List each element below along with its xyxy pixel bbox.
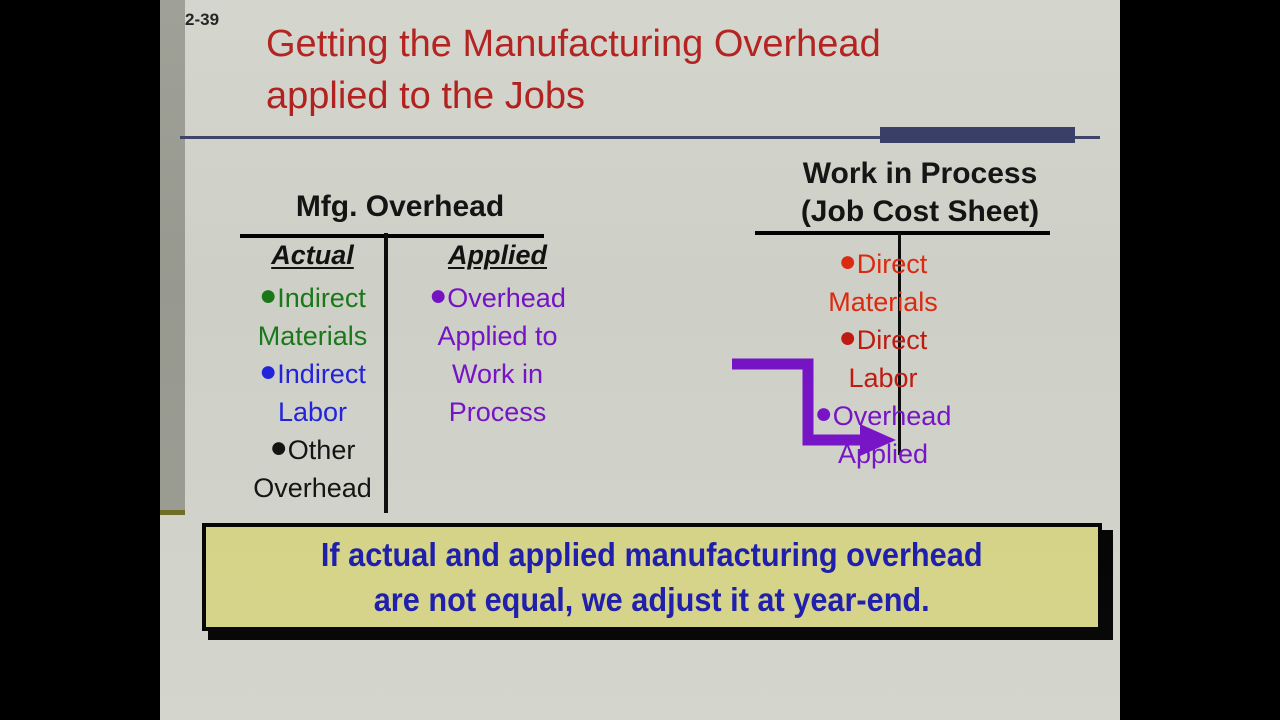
mfg-overhead-account: Mfg. Overhead xyxy=(220,190,580,224)
work-in-process-heading-line-1: Work in Process xyxy=(750,155,1090,193)
work-in-process-items: ●Direct Materials ●Direct Labor ●Overhea… xyxy=(738,245,1028,473)
list-item-line: Labor xyxy=(220,393,405,431)
callout-line-2: are not equal, we adjust it at year-end. xyxy=(321,577,983,622)
mfg-overhead-actual-column: Actual ●Indirect Materials ●Indirect Lab… xyxy=(220,240,405,507)
list-item: ●Other Overhead xyxy=(220,431,405,507)
work-in-process-top-rule xyxy=(755,231,1050,235)
list-item-line: Overhead xyxy=(220,469,405,507)
page-number: 2-39 xyxy=(185,10,219,30)
callout-line-1: If actual and applied manufacturing over… xyxy=(321,532,983,577)
list-item: ●Overhead Applied to Work in Process xyxy=(405,279,590,431)
page-title-line-1: Getting the Manufacturing Overhead xyxy=(266,18,1046,70)
bullet-dot-icon: ● xyxy=(259,279,277,312)
bullet-dot-icon: ● xyxy=(429,279,447,312)
mfg-overhead-top-rule xyxy=(240,234,544,238)
bullet-dot-icon: ● xyxy=(270,431,288,464)
list-item-line: Indirect xyxy=(277,359,366,389)
left-accent-band-foot xyxy=(160,510,185,515)
page-title-line-2: applied to the Jobs xyxy=(266,70,1046,122)
list-item-line: Direct xyxy=(857,249,928,279)
work-in-process-heading-line-2: (Job Cost Sheet) xyxy=(750,193,1090,231)
mfg-overhead-columns: Actual ●Indirect Materials ●Indirect Lab… xyxy=(220,240,590,507)
list-item-line: Overhead xyxy=(833,401,952,431)
bullet-dot-icon: ● xyxy=(259,355,277,388)
list-item-line: Materials xyxy=(738,283,1028,321)
list-item-line: Overhead xyxy=(447,283,566,313)
bullet-dot-icon: ● xyxy=(839,245,857,278)
callout-box: If actual and applied manufacturing over… xyxy=(202,523,1102,631)
mfg-overhead-heading: Mfg. Overhead xyxy=(220,190,580,224)
list-item-line: Materials xyxy=(220,317,405,355)
list-item: ●Indirect Materials xyxy=(220,279,405,355)
list-item: ●Indirect Labor xyxy=(220,355,405,431)
slide-root: 2-39 Getting the Manufacturing Overhead … xyxy=(0,0,1280,720)
title-accent-bar xyxy=(880,127,1075,143)
column-header-applied: Applied xyxy=(448,240,547,271)
list-item-line: Process xyxy=(405,393,590,431)
work-in-process-account: Work in Process (Job Cost Sheet) xyxy=(750,155,1090,231)
list-item: ●Direct Materials xyxy=(738,245,1028,321)
list-item: ●Overhead Applied xyxy=(738,397,1028,473)
list-item-line: Indirect xyxy=(277,283,366,313)
column-header-actual: Actual xyxy=(271,240,354,271)
bullet-dot-icon: ● xyxy=(839,321,857,354)
list-item-line: Work in xyxy=(405,355,590,393)
list-item-line: Labor xyxy=(738,359,1028,397)
slide-canvas: 2-39 Getting the Manufacturing Overhead … xyxy=(160,0,1120,720)
left-accent-band xyxy=(160,0,185,510)
list-item-line: Applied to xyxy=(405,317,590,355)
list-item-line: Direct xyxy=(857,325,928,355)
page-title: Getting the Manufacturing Overhead appli… xyxy=(266,18,1046,122)
callout-text: If actual and applied manufacturing over… xyxy=(321,532,983,622)
mfg-overhead-applied-column: Applied ●Overhead Applied to Work in Pro… xyxy=(405,240,590,507)
list-item-line: Other xyxy=(288,435,356,465)
bullet-dot-icon: ● xyxy=(815,397,833,430)
list-item-line: Applied xyxy=(738,435,1028,473)
list-item: ●Direct Labor xyxy=(738,321,1028,397)
